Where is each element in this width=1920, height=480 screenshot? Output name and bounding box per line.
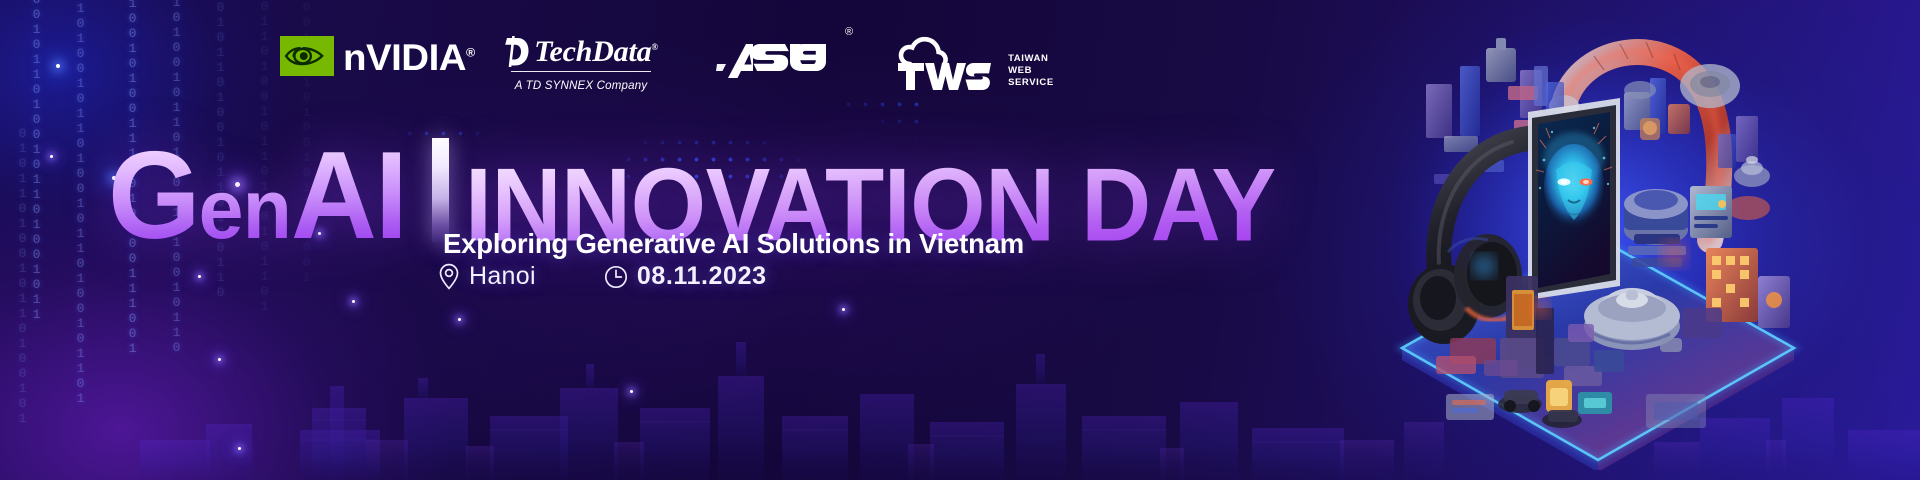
cloud-icon <box>894 36 1002 92</box>
tws-line-2: WEB <box>1008 65 1054 77</box>
sparkle-particle <box>50 155 53 158</box>
clock-icon <box>604 265 628 289</box>
techdata-rule <box>511 71 651 72</box>
meta-location: Hanoi <box>438 262 536 291</box>
headline-brand-g: G <box>108 127 199 265</box>
genai-innovation-day-banner: 0010110100101101001011 11010010110100101… <box>0 0 1920 480</box>
ai-scene-svg <box>1388 8 1808 470</box>
sparkle-particle <box>458 318 461 321</box>
3d-isometric-ai-scene <box>1388 8 1808 470</box>
logo-nvidia[interactable]: nVIDIA® <box>280 36 470 76</box>
asus-wordmark-icon <box>716 40 842 80</box>
sparkle-particle <box>218 358 221 361</box>
registered-mark: ® <box>466 45 475 59</box>
subtitle: Exploring Generative AI Solutions in Vie… <box>443 228 1024 260</box>
registered-mark: ® <box>651 42 658 52</box>
nvidia-wordmark: nVIDIA® <box>343 39 475 76</box>
sparkle-particle <box>842 308 845 311</box>
sparkle-particle <box>198 275 201 278</box>
headline-brand-en: en <box>199 162 291 256</box>
binary-stream: 0010110100101101001011 <box>30 0 43 322</box>
registered-mark: ® <box>845 26 853 38</box>
techdata-d-icon <box>504 36 529 67</box>
sparkle-particle <box>352 300 355 303</box>
logo-techdata[interactable]: TechData® A TD SYNNEX Company <box>504 36 658 92</box>
date-label: 08.11.2023 <box>637 262 767 291</box>
techdata-subtitle: A TD SYNNEX Company <box>515 80 647 92</box>
headline-brand: GenAI <box>108 144 406 248</box>
headline-divider <box>432 138 449 242</box>
sparkle-particle <box>238 447 241 450</box>
event-meta: Hanoi 08.11.2023 <box>438 262 767 291</box>
location-label: Hanoi <box>469 262 536 291</box>
sparkle-particle <box>56 64 60 68</box>
logo-tws[interactable]: TAIWAN WEB SERVICE <box>894 36 1054 92</box>
headline-brand-ai: AI <box>291 127 406 265</box>
logo-asus[interactable]: ® <box>716 40 850 80</box>
sparkle-particle <box>630 390 633 393</box>
partner-logos: nVIDIA® TechData® A TD SYNNEX Company <box>280 36 1054 92</box>
tws-line-1: TAIWAN <box>1008 53 1054 65</box>
tws-line-3: SERVICE <box>1008 77 1054 89</box>
location-pin-icon <box>438 263 460 290</box>
tws-tagline: TAIWAN WEB SERVICE <box>1008 53 1054 89</box>
meta-date: 08.11.2023 <box>604 262 767 291</box>
techdata-wordmark: TechData® <box>534 37 658 67</box>
nvidia-eye-icon <box>280 36 334 76</box>
